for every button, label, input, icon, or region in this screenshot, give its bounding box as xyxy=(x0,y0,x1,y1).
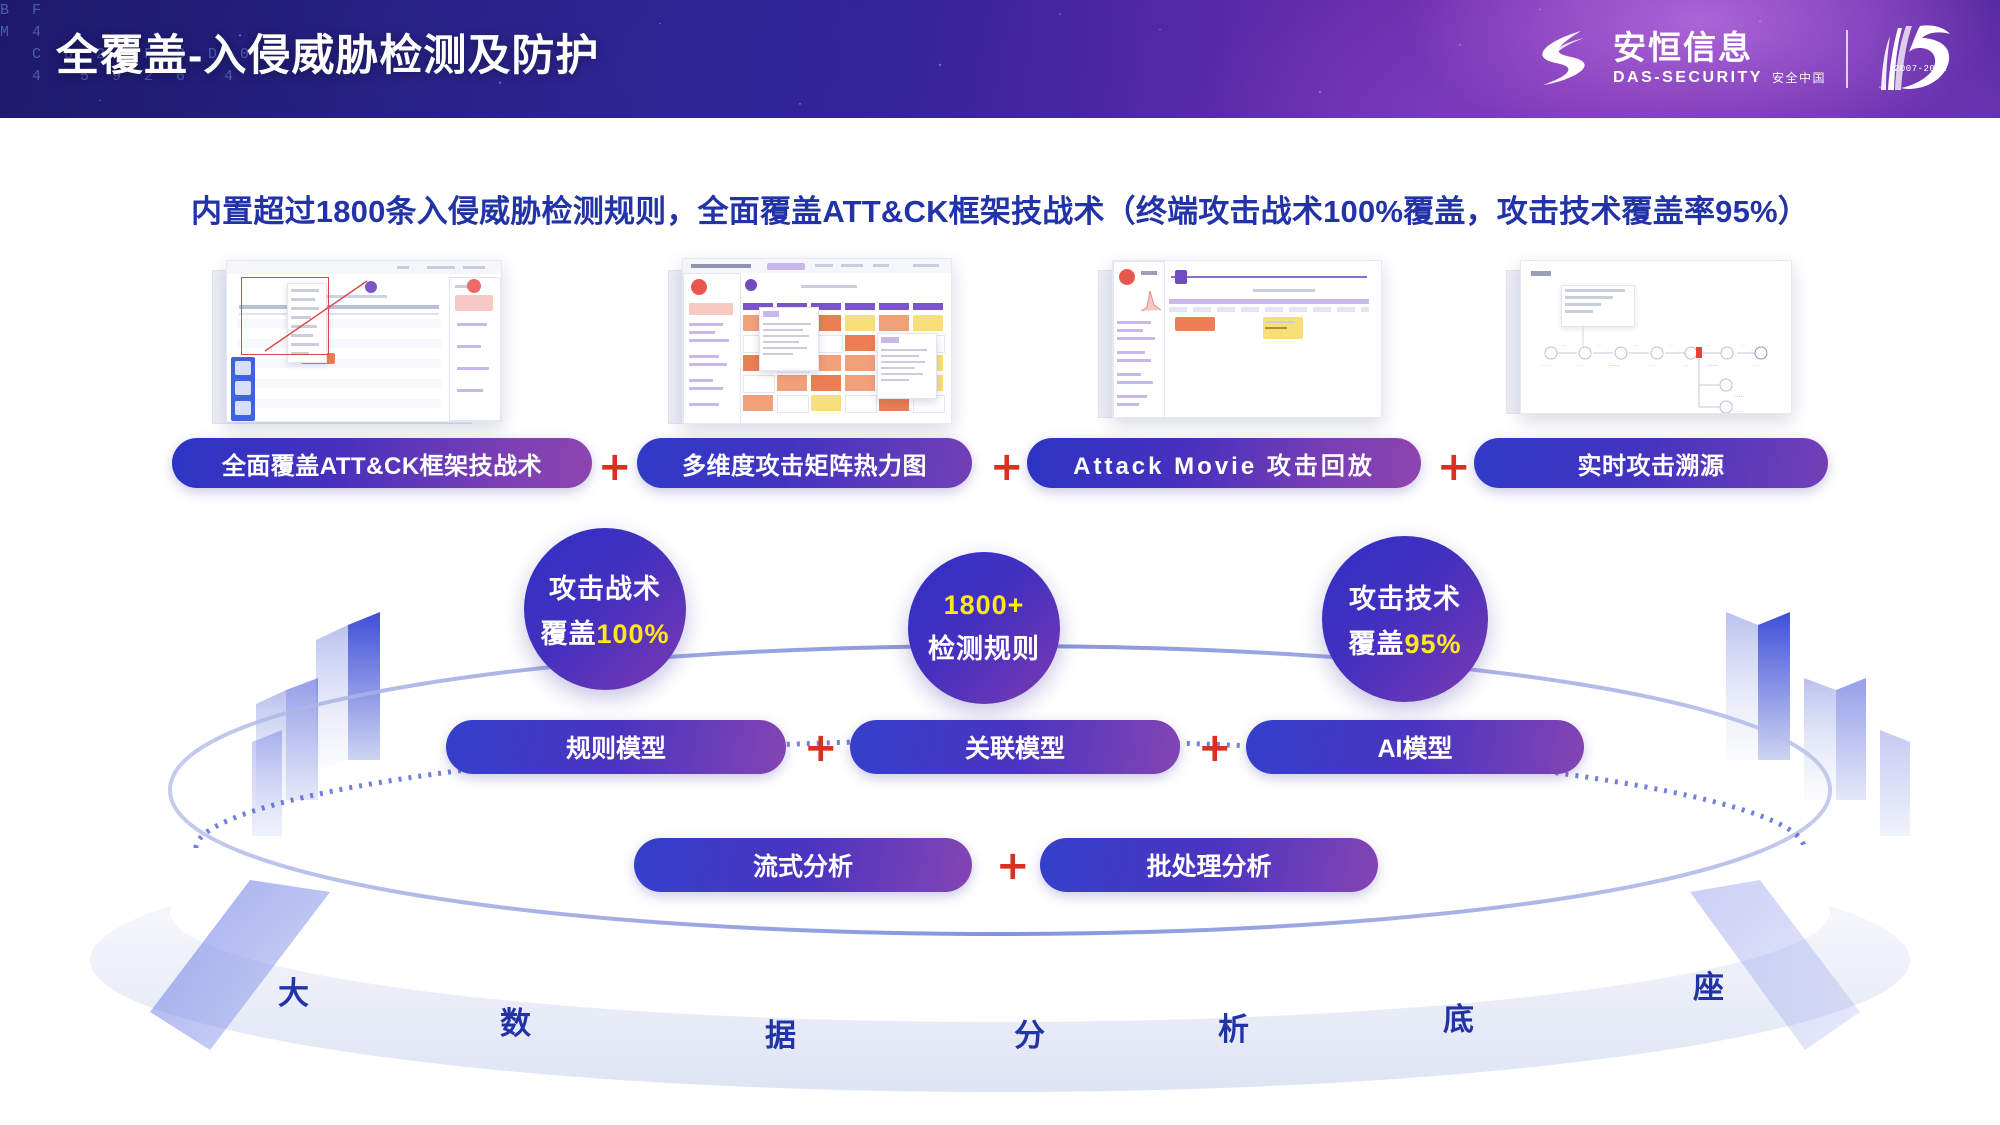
svg-text:····: ···· xyxy=(1683,363,1690,369)
pill-label: 关联模型 xyxy=(965,729,1065,765)
metric-circle-rule-count: 1800+ 检测规则 xyxy=(908,552,1060,704)
metric-prefix: 覆盖 xyxy=(1348,629,1404,659)
foundation-char-6: 底 xyxy=(1443,994,1474,1039)
pill-attack-movie[interactable]: Attack Movie 攻击回放 xyxy=(1027,438,1421,488)
metric-value: 100% xyxy=(596,619,669,649)
svg-text:····: ···· xyxy=(1751,363,1758,369)
metric-value: 95% xyxy=(1404,629,1461,659)
foundation-char-2: 数 xyxy=(500,998,531,1043)
anniversary-badge: 2007-2022 xyxy=(1868,22,1964,96)
pill-ai-model[interactable]: AI模型 xyxy=(1246,720,1584,774)
foundation-char-7: 座 xyxy=(1693,962,1724,1007)
pill-stream-analysis[interactable]: 流式分析 xyxy=(634,838,972,892)
thumbnail-heatmap[interactable] xyxy=(682,258,952,424)
svg-text:····: ···· xyxy=(1735,394,1742,400)
pill-label: AI模型 xyxy=(1377,729,1452,765)
anniversary-years: 2007-2022 xyxy=(1894,64,1947,74)
pill-label: 流式分析 xyxy=(753,847,853,883)
metric-line1: 1800+ xyxy=(944,590,1025,621)
red-pointer-line xyxy=(241,277,371,357)
thumbnail-attack-movie[interactable] xyxy=(1112,260,1382,418)
svg-text:······: ······ xyxy=(1609,363,1620,369)
screenshot-thumbnails: ········· ········· ·········· ·········… xyxy=(0,258,2000,438)
pill-rule-model[interactable]: 规则模型 xyxy=(446,720,786,774)
foundation-char-4: 分 xyxy=(1014,1010,1045,1055)
svg-text:·····: ····· xyxy=(1647,363,1656,369)
metric-line1: 攻击技术 xyxy=(1349,577,1461,616)
pill-label: 多维度攻击矩阵热力图 xyxy=(682,446,927,481)
logo-divider xyxy=(1846,30,1848,88)
pill-correlation-model[interactable]: 关联模型 xyxy=(850,720,1180,774)
svg-text:······: ······ xyxy=(1707,363,1718,369)
metric-circle-technique-coverage: 攻击技术 覆盖95% xyxy=(1322,536,1488,702)
logo-wordmark: 安恒信息 DAS-SECURITY 安全中国 xyxy=(1613,31,1826,87)
svg-text:·····: ····· xyxy=(1575,363,1584,369)
foundation-char-1: 大 xyxy=(278,968,309,1013)
right-pillars xyxy=(1726,612,1910,836)
metric-circle-tactics-coverage: 攻击战术 覆盖100% xyxy=(524,528,686,690)
logo-tagline: 安全中国 xyxy=(1772,69,1826,86)
attack-chain-diagram: ········· ········· ·········· ·········… xyxy=(1521,261,1791,413)
plus-separator-6: + xyxy=(996,846,1030,886)
svg-text:···: ··· xyxy=(1741,343,1746,349)
pill-heatmap[interactable]: 多维度攻击矩阵热力图 xyxy=(637,438,972,488)
company-logo: 安恒信息 DAS-SECURITY 安全中国 2007-2022 xyxy=(1537,20,1964,98)
svg-text:····: ···· xyxy=(1735,409,1742,413)
plus-separator-4: + xyxy=(804,728,838,768)
svg-text:···: ··· xyxy=(1705,343,1710,349)
metric-line2: 检测规则 xyxy=(928,627,1040,666)
plus-separator-2: + xyxy=(990,447,1024,487)
pill-batch-analysis[interactable]: 批处理分析 xyxy=(1040,838,1378,892)
pill-label: 实时攻击溯源 xyxy=(1578,446,1725,481)
header-banner: B F M 4 C 8 2 F 3 D 0 4 5 9 2 6 4 全覆盖-入侵… xyxy=(0,0,2000,118)
pill-attack-matrix-coverage[interactable]: 全面覆盖ATT&CK框架技战术 xyxy=(172,438,592,488)
slide-root: B F M 4 C 8 2 F 3 D 0 4 5 9 2 6 4 全覆盖-入侵… xyxy=(0,0,2000,1125)
plus-separator-1: + xyxy=(598,447,632,487)
anniversary-15-icon xyxy=(1868,22,1964,96)
foundation-char-3: 据 xyxy=(765,1010,796,1055)
plus-separator-5: + xyxy=(1198,728,1232,768)
metric-line2: 覆盖95% xyxy=(1348,622,1461,661)
foundation-char-5: 析 xyxy=(1218,1004,1249,1049)
pill-label: 全面覆盖ATT&CK框架技战术 xyxy=(222,446,542,481)
thumbnail-attack-matrix[interactable] xyxy=(226,260,502,422)
logo-company-name: 安恒信息 xyxy=(1613,31,1826,66)
pill-label: Attack Movie 攻击回放 xyxy=(1073,446,1375,481)
pill-label: 批处理分析 xyxy=(1146,847,1271,883)
svg-text:···: ··· xyxy=(1561,343,1566,349)
svg-text:···: ··· xyxy=(1633,343,1638,349)
metric-line2: 覆盖100% xyxy=(540,612,669,651)
das-security-logo-icon xyxy=(1537,28,1593,90)
subtitle-text: 内置超过1800条入侵威胁检测规则，全面覆盖ATT&CK框架技战术（终端攻击战术… xyxy=(0,186,2000,231)
logo-english-name: DAS-SECURITY xyxy=(1613,69,1763,87)
left-pillars xyxy=(252,612,380,836)
page-title: 全覆盖-入侵威胁检测及防护 xyxy=(56,21,599,83)
metric-prefix: 覆盖 xyxy=(540,619,596,649)
thumbnail-trace-chain[interactable]: ········· ········· ·········· ·········… xyxy=(1520,260,1792,414)
pill-label: 规则模型 xyxy=(566,729,666,765)
svg-text:···: ··· xyxy=(1669,343,1674,349)
plus-separator-3: + xyxy=(1437,447,1471,487)
pill-realtime-trace[interactable]: 实时攻击溯源 xyxy=(1474,438,1828,488)
svg-text:·····: ····· xyxy=(1541,363,1550,369)
metric-line1: 攻击战术 xyxy=(549,567,661,606)
svg-text:···: ··· xyxy=(1597,343,1602,349)
mini-sparkline xyxy=(1141,285,1161,311)
